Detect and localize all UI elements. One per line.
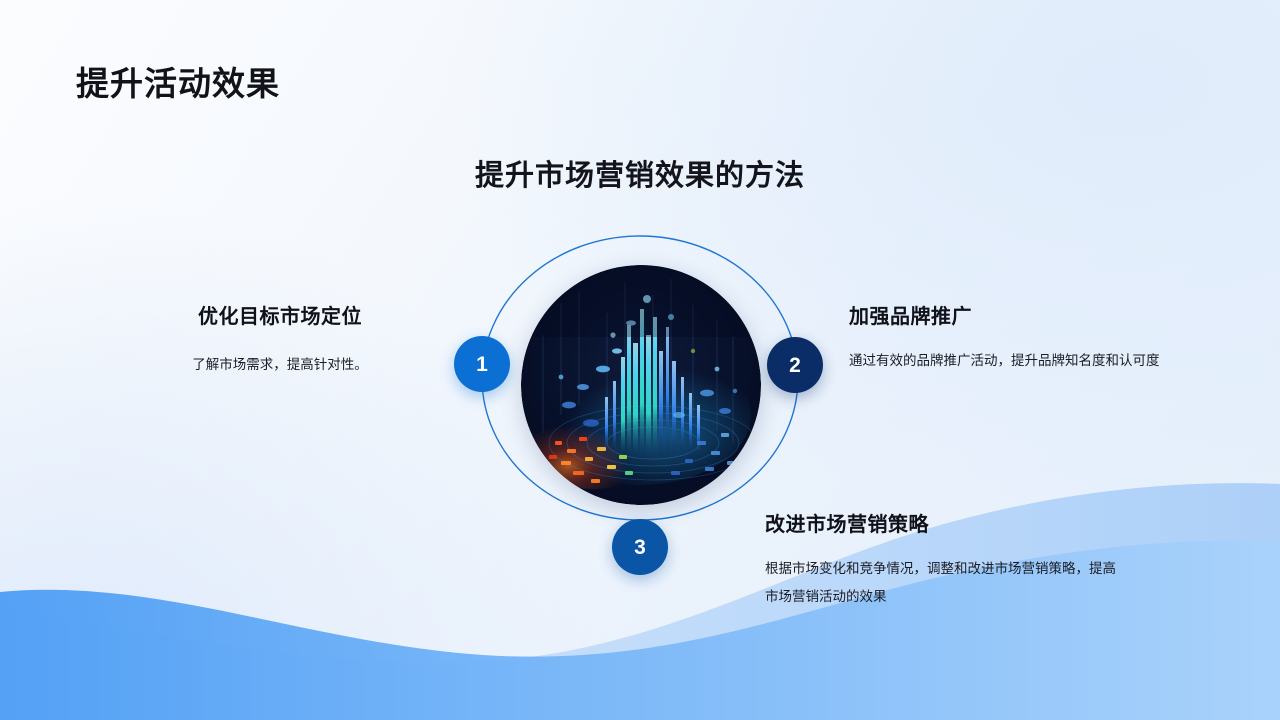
step-item-1-description: 了解市场需求，提高针对性。: [120, 351, 440, 379]
step-node-3-number: 3: [634, 537, 646, 558]
step-item-2: 加强品牌推广 通过有效的品牌推广活动，提升品牌知名度和认可度: [849, 300, 1173, 375]
step-item-1-title: 优化目标市场定位: [120, 300, 440, 329]
step-node-1-number: 1: [476, 354, 488, 375]
step-item-1: 优化目标市场定位 了解市场需求，提高针对性。: [120, 300, 440, 379]
step-node-2[interactable]: 2: [767, 337, 823, 393]
step-item-2-title: 加强品牌推广: [849, 300, 1173, 329]
slide-canvas: 提升活动效果 提升市场营销效果的方法: [0, 0, 1280, 720]
step-node-1[interactable]: 1: [454, 336, 510, 392]
step-node-3[interactable]: 3: [612, 519, 668, 575]
hub-image: [521, 265, 761, 505]
step-item-3: 改进市场营销策略 根据市场变化和竞争情况，调整和改进市场营销策略，提高市场营销活…: [765, 508, 1125, 610]
step-item-3-description: 根据市场变化和竞争情况，调整和改进市场营销策略，提高市场营销活动的效果: [765, 555, 1125, 610]
step-node-2-number: 2: [789, 355, 801, 376]
step-item-3-title: 改进市场营销策略: [765, 508, 1125, 537]
step-item-2-description: 通过有效的品牌推广活动，提升品牌知名度和认可度: [849, 347, 1173, 375]
